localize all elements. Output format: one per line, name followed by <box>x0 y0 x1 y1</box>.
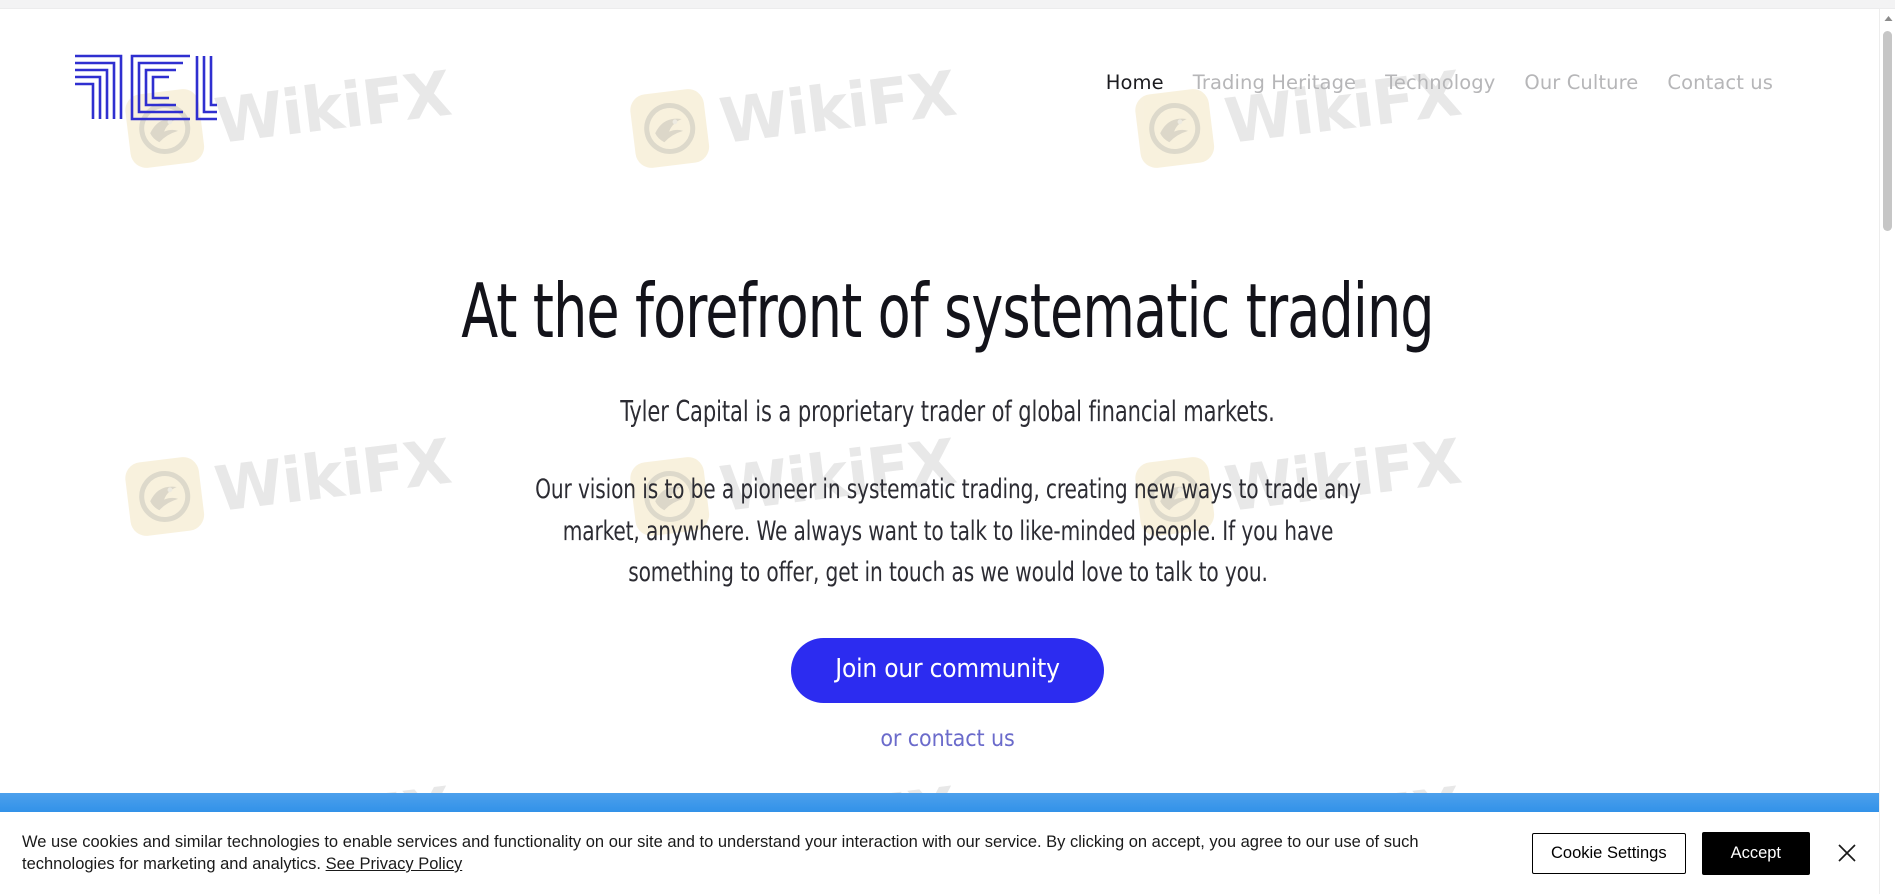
hero-title: At the forefront of systematic trading <box>190 271 1706 352</box>
cookie-consent-banner: We use cookies and similar technologies … <box>0 812 1895 894</box>
hero-subtitle: Tyler Capital is a proprietary trader of… <box>171 395 1725 428</box>
tyler-capital-logo[interactable] <box>73 51 219 121</box>
cookie-banner-text: We use cookies and similar technologies … <box>22 831 1532 876</box>
page-root: WikiFX WikiFX WikiFX <box>0 0 1895 894</box>
page-scrollbar[interactable] <box>1879 9 1895 894</box>
cookie-banner-message: We use cookies and similar technologies … <box>22 833 1419 874</box>
close-icon[interactable] <box>1830 836 1864 870</box>
hero-body-text: Our vision is to be a pioneer in systema… <box>512 469 1384 594</box>
hero-section: At the forefront of systematic trading T… <box>0 119 1895 752</box>
accept-cookies-button[interactable]: Accept <box>1702 832 1810 875</box>
join-our-community-button[interactable]: Join our community <box>791 638 1103 703</box>
nav-item-home[interactable]: Home <box>1106 71 1164 94</box>
or-contact-us-link[interactable]: or contact us <box>0 726 1895 752</box>
cookie-banner-actions: Cookie Settings Accept <box>1532 832 1864 875</box>
privacy-policy-link[interactable]: See Privacy Policy <box>326 855 463 873</box>
site-header: Home Trading Heritage Technology Our Cul… <box>0 9 1895 119</box>
scrollbar-thumb[interactable] <box>1883 31 1892 231</box>
nav-item-trading-heritage[interactable]: Trading Heritage <box>1193 71 1356 94</box>
nav-item-contact-us[interactable]: Contact us <box>1667 71 1773 94</box>
cookie-settings-button[interactable]: Cookie Settings <box>1532 833 1686 874</box>
nav-item-technology[interactable]: Technology <box>1385 71 1495 94</box>
nav-item-our-culture[interactable]: Our Culture <box>1524 71 1638 94</box>
main-nav: Home Trading Heritage Technology Our Cul… <box>1106 71 1773 94</box>
scroll-up-arrow-icon[interactable] <box>1880 9 1895 27</box>
hero-cta-group: Join our community or contact us <box>0 638 1895 752</box>
browser-chrome-strip <box>0 0 1895 9</box>
